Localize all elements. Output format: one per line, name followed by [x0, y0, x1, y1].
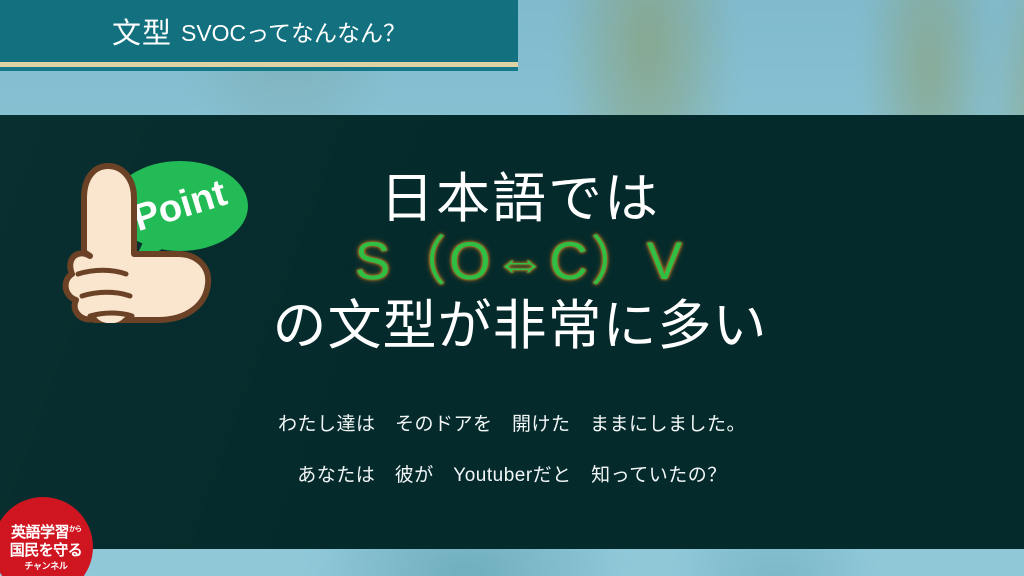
header-kanji-label: 文型	[112, 10, 172, 52]
header-underline	[0, 67, 518, 71]
slide-canvas: 文型 SVOCってなんなん？ Point 日本語では	[0, 0, 1024, 576]
point-badge-group: Point	[38, 148, 278, 323]
point-badge-svg: Point	[38, 148, 278, 323]
channel-logo-line-3: チャンネル	[24, 560, 67, 573]
channel-logo-superscript: から	[69, 526, 81, 533]
example-sentence-1: わたし達は そのドアを 開けた ままにしました。	[0, 412, 1024, 438]
main-line-1: 日本語では	[240, 168, 800, 230]
channel-logo-line-2: 国民を守る	[10, 541, 83, 560]
header-title: 文型 SVOCってなんなん？	[0, 0, 518, 62]
channel-logo-line-1: 英語学習から	[11, 521, 81, 541]
main-text-block: 日本語では S（O⇔C）V の文型が非常に多い	[240, 168, 800, 358]
channel-logo-line-1-text: 英語学習	[11, 524, 69, 541]
example-sentence-2: あなたは 彼が Youtuberだと 知っていたの？	[0, 463, 1024, 489]
main-line-2-formula: S（O⇔C）V	[240, 230, 800, 294]
main-line-3: の文型が非常に多い	[240, 294, 800, 358]
example-sentences: わたし達は そのドアを 開けた ままにしました。 あなたは 彼が Youtube…	[0, 412, 1024, 489]
header-subtitle: SVOCってなんなん？	[181, 14, 406, 48]
